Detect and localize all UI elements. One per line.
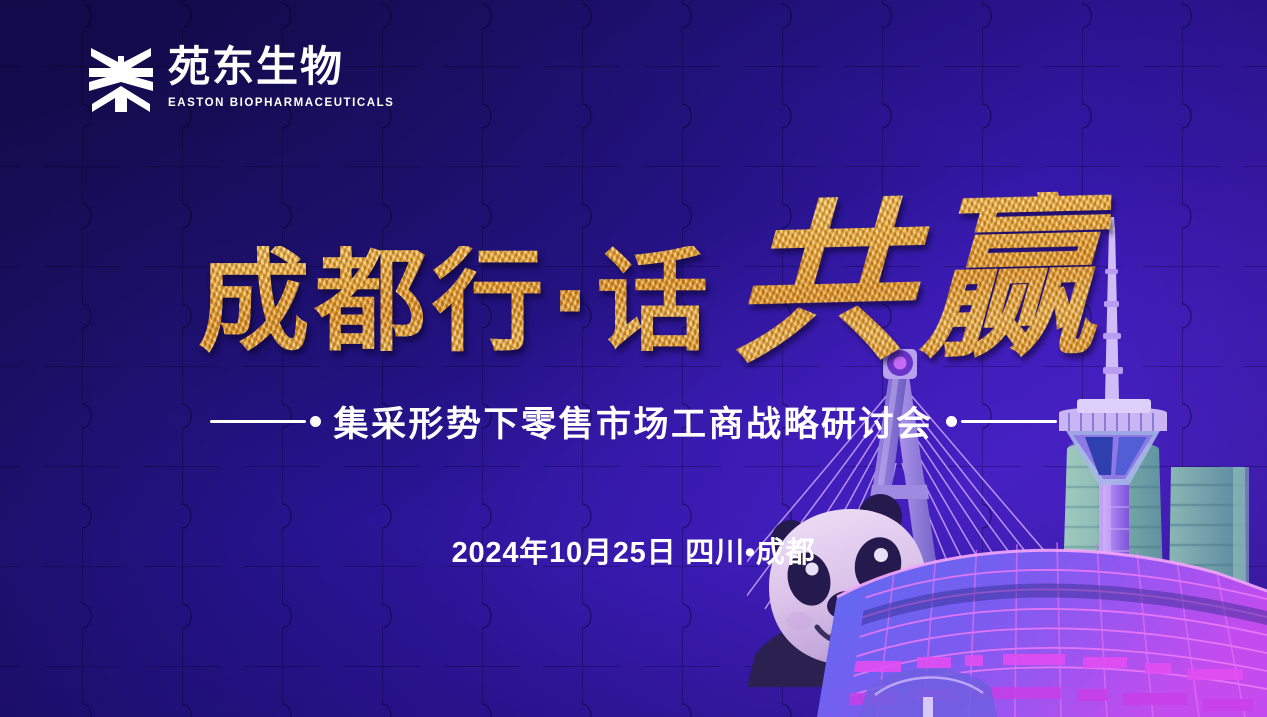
headline-part-1: 成都行·话 bbox=[198, 246, 714, 358]
rule-line-dot-icon bbox=[210, 416, 321, 427]
headline-part-2: 共赢 bbox=[731, 190, 1112, 366]
headline: 成都行·话 共赢 bbox=[0, 148, 1267, 358]
company-name-en: EASTON BIOPHARMACEUTICALS bbox=[168, 97, 394, 109]
brand-logo: 苑东生物 EASTON BIOPHARMACEUTICALS bbox=[88, 42, 394, 112]
rule-dot-line-icon bbox=[946, 416, 1057, 427]
event-dateline: 2024年10月25日 四川•成都 bbox=[0, 529, 1267, 571]
brand-logo-text: 苑东生物 EASTON BIOPHARMACEUTICALS bbox=[168, 45, 394, 108]
subtitle-row: 集采形势下零售市场工商战略研讨会 bbox=[0, 396, 1267, 447]
company-name-cn: 苑东生物 bbox=[168, 45, 394, 89]
subtitle-text: 集采形势下零售市场工商战略研讨会 bbox=[333, 396, 933, 447]
easton-tree-mark-icon bbox=[88, 42, 154, 112]
event-poster: 苑东生物 EASTON BIOPHARMACEUTICALS 成都行·话 共赢 … bbox=[0, 0, 1267, 717]
